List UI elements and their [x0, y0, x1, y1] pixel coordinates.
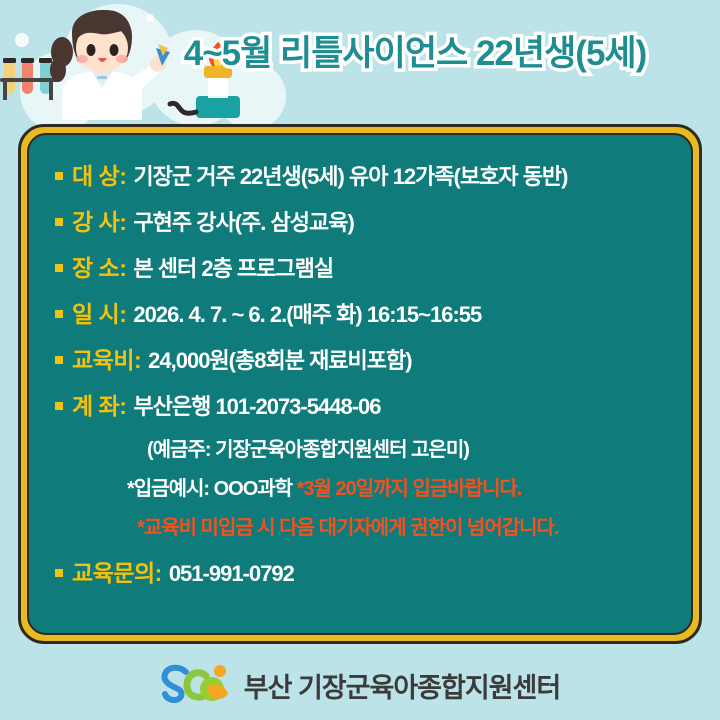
info-label: 강 사:	[72, 203, 126, 237]
info-label: 교육비:	[72, 341, 141, 375]
info-row-fee: 교육비: 24,000원(총8회분 재료비포함)	[55, 341, 665, 375]
bullet-icon	[55, 356, 63, 364]
info-row-location: 장 소: 본 센터 2층 프로그램실	[55, 249, 665, 283]
info-row-account: 계 좌: 부산은행 101-2073-5448-06	[55, 387, 665, 421]
page-title: 4~5월 리틀사이언스 22년생(5세)	[120, 34, 710, 74]
bullet-icon	[55, 172, 63, 180]
note-payment-example-text: *입금예시: OOO과학	[127, 478, 297, 500]
info-row-inquiry: 교육문의: 051-991-0792	[55, 554, 665, 588]
organization-name: 부산 기장군육아종합지원센터	[244, 666, 560, 705]
note-warning: *교육비 미입금 시 다음 대기자에게 권한이 넘어갑니다.	[55, 511, 665, 540]
bullet-icon	[55, 569, 63, 577]
info-card: 대 상: 기장군 거주 22년생(5세) 유아 12가족(보호자 동반) 강 사…	[18, 124, 702, 644]
info-row-target: 대 상: 기장군 거주 22년생(5세) 유아 12가족(보호자 동반)	[55, 157, 665, 191]
info-row-instructor: 강 사: 구현주 강사(주. 삼성교육)	[55, 203, 665, 237]
info-value: 기장군 거주 22년생(5세) 유아 12가족(보호자 동반)	[133, 159, 567, 191]
note-payment-deadline: *3월 20일까지 입금바랍니다.	[297, 478, 522, 500]
info-value: 24,000원(총8회분 재료비포함)	[148, 343, 411, 375]
sci-logo	[160, 662, 234, 708]
info-card-body: 대 상: 기장군 거주 22년생(5세) 유아 12가족(보호자 동반) 강 사…	[27, 133, 693, 635]
note-payment-example: *입금예시: OOO과학 *3월 20일까지 입금바랍니다.	[55, 472, 665, 501]
info-value: 2026. 4. 7. ~ 6. 2.(매주 화) 16:15~16:55	[133, 297, 481, 329]
poster: 4~5월 리틀사이언스 22년생(5세) 대 상: 기장군 거주 22년생(5세…	[0, 0, 720, 720]
test-tube-rack	[0, 58, 58, 100]
poster-header: 4~5월 리틀사이언스 22년생(5세)	[0, 0, 720, 128]
info-label: 일 시:	[72, 295, 126, 329]
bullet-icon	[55, 402, 63, 410]
info-label: 교육문의:	[72, 554, 162, 588]
info-value: 본 센터 2층 프로그램실	[133, 251, 333, 283]
note-depositor: (예금주: 기장군육아종합지원센터 고은미)	[55, 433, 665, 462]
info-value: 부산은행 101-2073-5448-06	[133, 389, 380, 421]
info-row-schedule: 일 시: 2026. 4. 7. ~ 6. 2.(매주 화) 16:15~16:…	[55, 295, 665, 329]
poster-footer: 부산 기장군육아종합지원센터	[0, 650, 720, 720]
info-label: 장 소:	[72, 249, 126, 283]
info-value: 구현주 강사(주. 삼성교육)	[133, 205, 353, 237]
info-label: 계 좌:	[72, 387, 126, 421]
info-value: 051-991-0792	[169, 561, 294, 587]
bullet-icon	[55, 264, 63, 272]
bullet-icon	[55, 310, 63, 318]
info-label: 대 상:	[72, 157, 126, 191]
bullet-icon	[55, 218, 63, 226]
